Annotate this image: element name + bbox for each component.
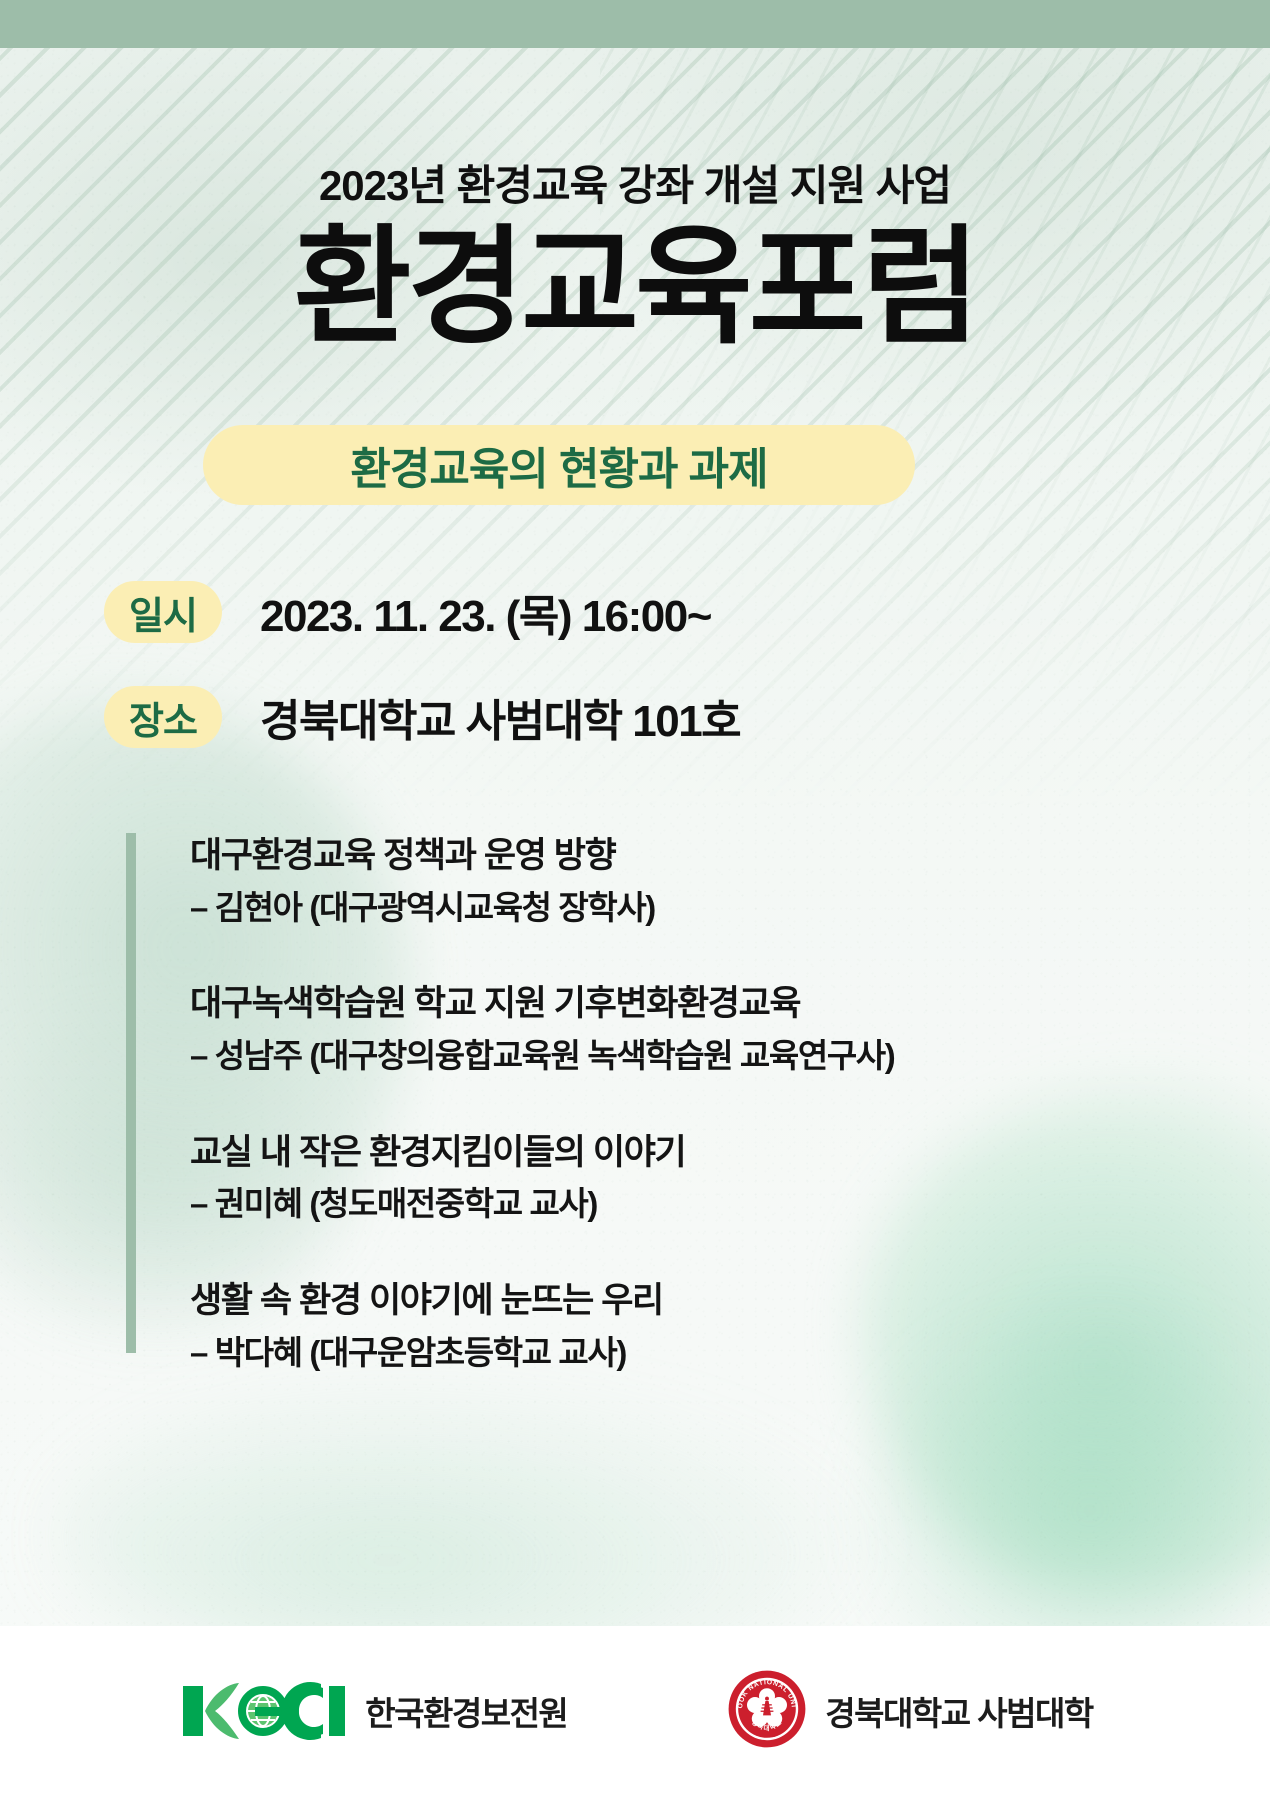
place-value: 경북대학교 사범대학 101호	[260, 685, 740, 749]
program-item-title: 대구녹색학습원 학교 지원 기후변화환경교육	[190, 981, 1126, 1027]
program-item-title: 생활 속 환경 이야기에 눈뜨는 우리	[190, 1278, 1126, 1324]
info-row-date: 일시 2023. 11. 23. (목) 16:00~	[104, 580, 711, 644]
keci-logo-icon	[177, 1680, 347, 1742]
program-item-speaker: – 박다혜 (대구운암초등학교 교사)	[190, 1332, 1126, 1375]
info-row-place: 장소 경북대학교 사범대학 101호	[104, 685, 740, 749]
poster-subtitle-badge: 환경교육의 현황과 과제	[203, 425, 915, 505]
program-list: 대구환경교육 정책과 운영 방향 – 김현아 (대구광역시교육청 장학사) 대구…	[126, 833, 1126, 1375]
keci-organization-name: 한국환경보전원	[365, 1687, 567, 1735]
program-item: 교실 내 작은 환경지킴이들의 이야기 – 권미혜 (청도매전중학교 교사)	[190, 1130, 1126, 1226]
poster-canvas: 2023년 환경교육 강좌 개설 지원 사업 환경교육포럼 환경교육의 현황과 …	[0, 0, 1270, 1796]
program-item: 대구녹색학습원 학교 지원 기후변화환경교육 – 성남주 (대구창의융합교육원 …	[190, 981, 1126, 1077]
footer-logos: 한국환경보전원 KYUNGPOOK NATIONAL UNIVERSITY	[0, 1626, 1270, 1796]
poster-content: 2023년 환경교육 강좌 개설 지원 사업 환경교육포럼 환경교육의 현황과 …	[0, 0, 1270, 1796]
knu-logo-group: KYUNGPOOK NATIONAL UNIVERSITY 경북대학교	[727, 1669, 1092, 1754]
poster-title: 환경교육포럼	[0, 212, 1270, 363]
poster-eyebrow: 2023년 환경교육 강좌 개설 지원 사업	[0, 152, 1270, 213]
program-item-title: 대구환경교육 정책과 운영 방향	[190, 833, 1126, 879]
program-item-speaker: – 김현아 (대구광역시교육청 장학사)	[190, 887, 1126, 930]
program-item-speaker: – 권미혜 (청도매전중학교 교사)	[190, 1183, 1126, 1226]
date-label-pill: 일시	[104, 581, 222, 643]
program-item-title: 교실 내 작은 환경지킴이들의 이야기	[190, 1130, 1126, 1176]
program-item-speaker: – 성남주 (대구창의융합교육원 녹색학습원 교육연구사)	[190, 1035, 1126, 1078]
place-label-pill: 장소	[104, 686, 222, 748]
program-item: 대구환경교육 정책과 운영 방향 – 김현아 (대구광역시교육청 장학사)	[190, 833, 1126, 929]
knu-organization-name: 경북대학교 사범대학	[825, 1687, 1092, 1735]
keci-logo-group: 한국환경보전원	[177, 1680, 567, 1742]
program-accent-bar	[126, 833, 136, 1353]
knu-emblem-icon: KYUNGPOOK NATIONAL UNIVERSITY 경북대학교	[727, 1669, 807, 1754]
date-value: 2023. 11. 23. (목) 16:00~	[260, 580, 711, 644]
program-item: 생활 속 환경 이야기에 눈뜨는 우리 – 박다혜 (대구운암초등학교 교사)	[190, 1278, 1126, 1374]
poster-subtitle-text: 환경교육의 현황과 과제	[350, 433, 767, 497]
